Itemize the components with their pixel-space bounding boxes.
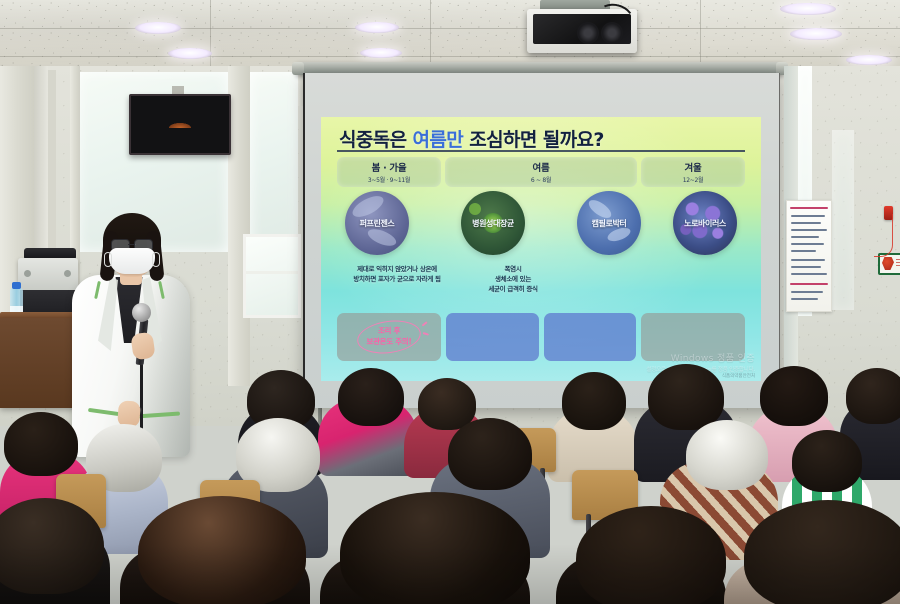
microphone-head xyxy=(132,303,151,322)
season-months: 3~5월 · 9~11월 xyxy=(368,175,410,184)
season-name: 여름 xyxy=(533,160,550,174)
attendee-head xyxy=(760,366,828,426)
tv-logo xyxy=(169,123,191,129)
window-center xyxy=(250,72,298,252)
title-underline xyxy=(337,150,745,152)
season-name: 겨울 xyxy=(685,160,702,174)
pathogen-label: 캠필로박터 xyxy=(592,218,627,229)
season-spring-autumn: 봄 · 가을 3~5월 · 9~11월 xyxy=(337,157,441,187)
pathogen-caption-2: 폭염시 생체소에 있는 세균이 급격히 증식 xyxy=(453,265,573,294)
av-equipment xyxy=(18,258,78,292)
attendee-head-front xyxy=(576,506,726,604)
storage-note: 조리 후 보관온도 주의! xyxy=(366,326,411,348)
attendee-head xyxy=(792,430,862,492)
wall-monitor[interactable] xyxy=(129,94,231,155)
ceiling-light xyxy=(168,48,212,59)
lecture-hall-screenshot: 식중독은 여름만 조심하면 될까요? 봄 · 가을 3~5월 · 9~11월 여… xyxy=(0,0,900,604)
window-right xyxy=(832,130,854,310)
ceiling-tile-line xyxy=(0,56,900,57)
attendee-head xyxy=(448,418,532,490)
wall-pillar xyxy=(228,66,250,386)
ceiling-tile-line xyxy=(430,0,431,70)
attendee-head-front xyxy=(340,492,530,604)
slide-title-part2: 조심하면 될까요? xyxy=(469,129,604,151)
bottom-box-note: 조리 후 보관온도 주의! xyxy=(337,313,441,361)
pathogen-label: 병원성대장균 xyxy=(472,218,514,229)
attendee-head xyxy=(562,372,626,430)
season-months: 12~2월 xyxy=(683,175,704,184)
ceiling-light xyxy=(355,22,399,33)
lectern xyxy=(0,318,76,408)
pathogen-label: 퍼프린젠스 xyxy=(360,218,395,229)
attendee-head xyxy=(338,368,404,426)
season-months: 6 ~ 8월 xyxy=(531,175,551,184)
notice-poster xyxy=(786,200,832,312)
pathogen-ecoli: 병원성대장균 xyxy=(461,191,525,255)
pathogen-campylobacter: 캠필로박터 xyxy=(577,191,641,255)
hand-holding-microphone xyxy=(130,332,155,361)
slide-title-part1: 식중독은 xyxy=(339,129,407,151)
bottom-box-blue-2 xyxy=(544,313,637,361)
bottle-cap xyxy=(12,282,21,289)
window-pane xyxy=(243,234,301,318)
ceiling-light xyxy=(360,48,402,58)
attendee-head-grey-hair xyxy=(686,420,768,490)
slide-content: 식중독은 여름만 조심하면 될까요? 봄 · 가을 3~5월 · 9~11월 여… xyxy=(321,117,761,381)
alarm-cord xyxy=(874,214,893,257)
slide-title-highlight: 여름만 xyxy=(413,129,464,151)
pathogen-norovirus: 노로바이러스 xyxy=(673,191,737,255)
ceiling-tile-line xyxy=(700,0,701,62)
pathogen-caption-1: 제대로 익히지 않았거나 상온에 방치하면 포자가 균으로 자라게 됨 xyxy=(337,265,457,285)
ceiling-tile-line xyxy=(210,0,211,70)
pathogen-perfringens: 퍼프린젠스 xyxy=(345,191,409,255)
ceiling-light xyxy=(780,3,836,15)
slide-title: 식중독은 여름만 조심하면 될까요? xyxy=(339,125,604,152)
season-winter: 겨울 12~2월 xyxy=(641,157,745,187)
attendee-head xyxy=(846,368,900,424)
ceiling-light xyxy=(846,55,892,65)
watermark-title: Windows 정품 인증 xyxy=(646,351,755,364)
presenter xyxy=(70,215,192,455)
microphone-cable xyxy=(140,363,143,429)
pathogen-row: 퍼프린젠스 병원성대장균 캠필로박터 노로바이러스 xyxy=(337,191,745,261)
face-mask xyxy=(109,248,155,274)
bottom-box-blue-1 xyxy=(446,313,539,361)
season-summer: 여름 6 ~ 8월 xyxy=(445,157,637,187)
attendee-head xyxy=(648,364,724,430)
ceiling-light xyxy=(790,28,842,40)
season-header-row: 봄 · 가을 3~5월 · 9~11월 여름 6 ~ 8월 겨울 12~2월 xyxy=(337,157,745,187)
projector-fan xyxy=(577,22,599,44)
ceiling-light xyxy=(135,22,181,34)
season-name: 봄 · 가을 xyxy=(372,160,407,174)
projection-screen: 식중독은 여름만 조심하면 될까요? 봄 · 가을 3~5월 · 9~11월 여… xyxy=(303,73,780,408)
attendee-head-front-brown xyxy=(138,496,306,604)
attendee-head xyxy=(4,412,78,476)
attendee-head-front xyxy=(744,500,900,604)
pathogen-label: 노로바이러스 xyxy=(684,218,726,229)
slide-credit: 식품의약품안전처 xyxy=(722,373,755,379)
